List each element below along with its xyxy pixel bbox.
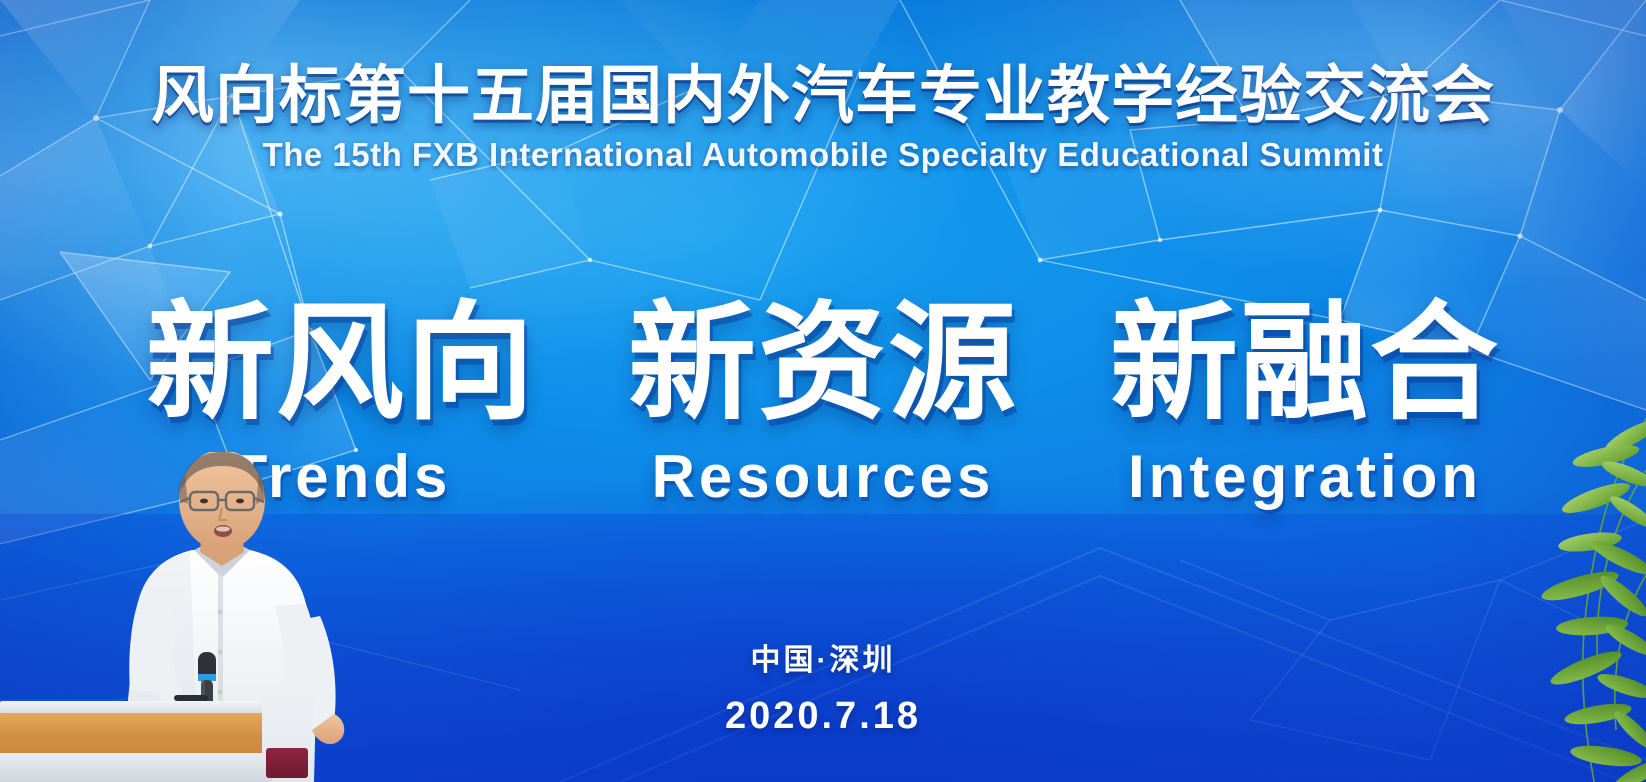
red-armband [266,748,308,778]
bamboo-foliage [1446,400,1646,782]
conference-stage-photo: 风向标第十五届国内外汽车专业教学经验交流会 The 15th FXB Inter… [0,0,1646,782]
speaker-podium [0,670,300,782]
podium-microphone-clip [174,695,208,701]
podium-wood-panel [0,713,262,755]
podium-base [0,753,272,782]
